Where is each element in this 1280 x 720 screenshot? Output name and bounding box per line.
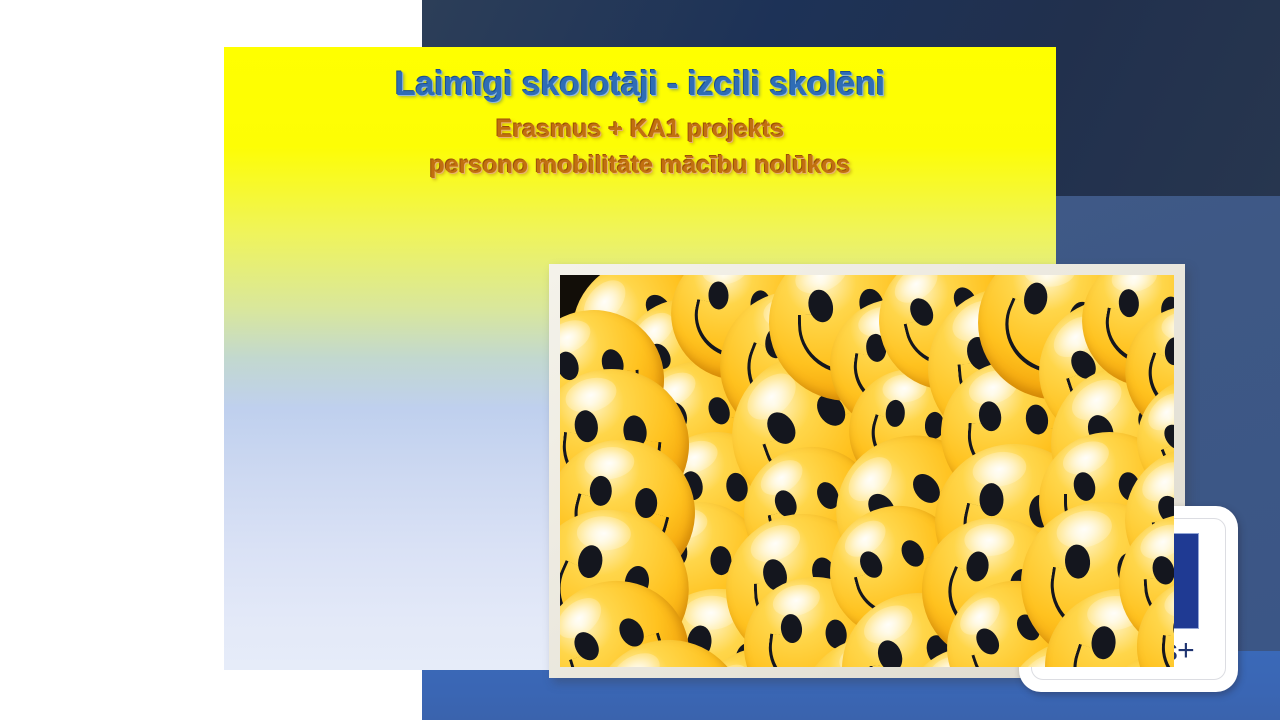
content-panel: Laimīgi skolotāji - izcili skolēni Erasm… [224,47,1056,670]
photo-frame [549,264,1185,678]
title-block: Laimīgi skolotāji - izcili skolēni Erasm… [224,65,1056,180]
page-title: Laimīgi skolotāji - izcili skolēni [224,65,1056,104]
ball-highlight [969,447,1028,490]
subtitle-line-1: Erasmus + KA1 projekts [224,114,1056,144]
ball-highlight [964,523,1014,555]
presentation-slide: Laimīgi skolotāji - izcili skolēni Erasm… [0,0,1280,720]
ball-smile [1159,635,1174,667]
ball-highlight [582,443,636,481]
smiley-faces-photo [560,275,1174,667]
subtitle-line-2: persono mobilitāte mācību nolūkos [224,150,1056,180]
ball-highlight [576,515,631,551]
